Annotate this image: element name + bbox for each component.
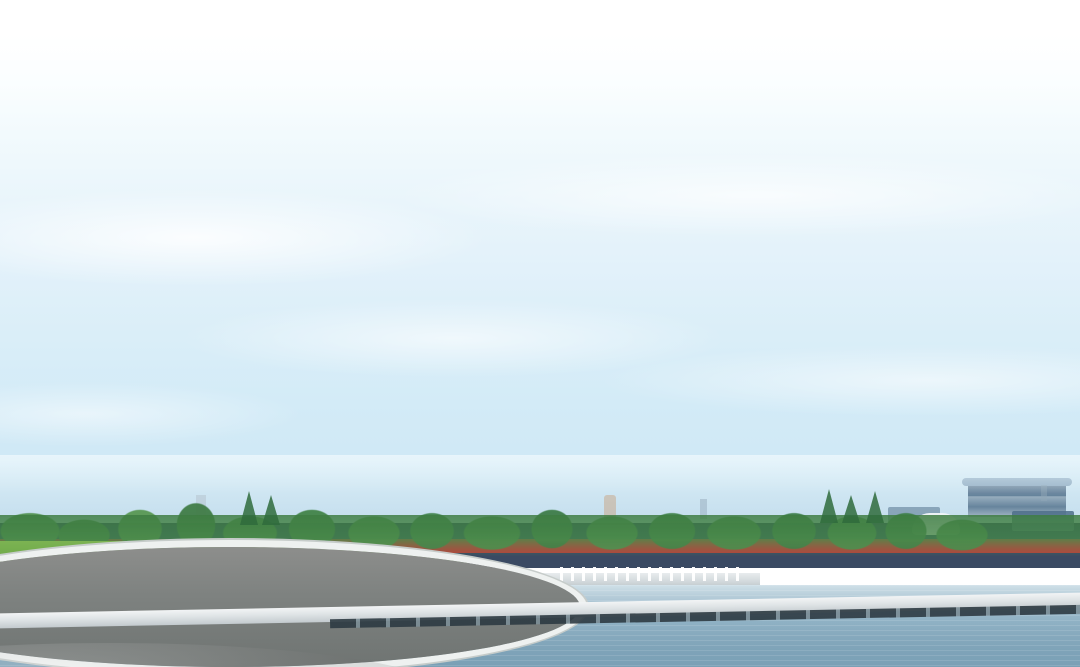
conifer-icon xyxy=(820,489,838,523)
helipad-shading xyxy=(0,643,450,667)
conifer-icon xyxy=(240,491,258,525)
scene-photograph: 月湖雕塑表演广场 飞行展演安全须知 xyxy=(0,455,1080,667)
conifer-icon xyxy=(262,495,280,525)
conifer-icon xyxy=(842,495,860,523)
conifer-icon xyxy=(866,491,884,523)
poster-root: 月湖雕塑表演广场 飞行展演安全须知 xyxy=(0,0,1080,667)
